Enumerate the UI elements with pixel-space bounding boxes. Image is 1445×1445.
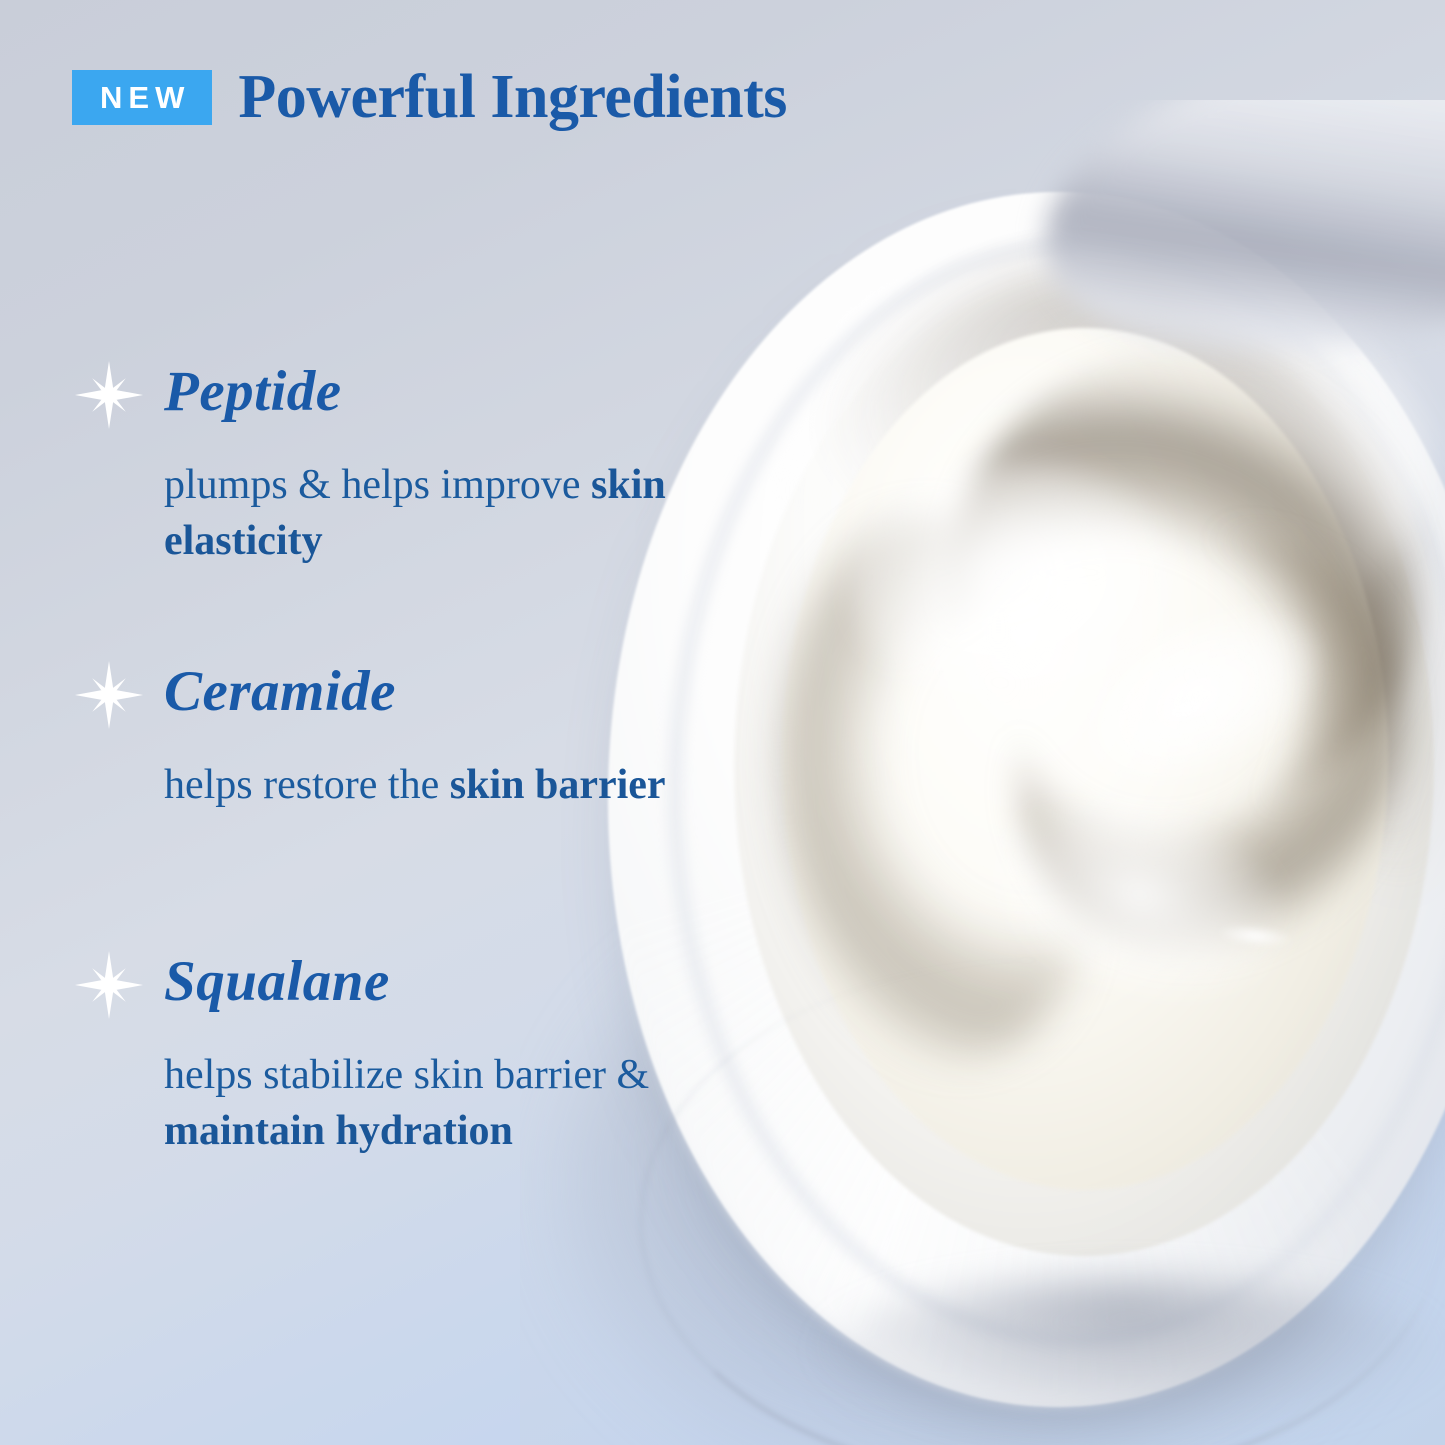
- ingredient-description: helps restore the skin barrier: [164, 758, 694, 814]
- ingredient-description: plumps & helps improve skin elasticity: [164, 458, 694, 570]
- sparkle-icon: [72, 358, 146, 432]
- sparkle-icon: [72, 658, 146, 732]
- new-badge: NEW: [72, 70, 212, 125]
- sparkle-icon: [72, 948, 146, 1022]
- ingredient-item: Ceramide helps restore the skin barrier: [72, 662, 712, 814]
- header: NEW Powerful Ingredients: [72, 62, 787, 133]
- ingredient-name: Peptide: [164, 362, 342, 422]
- ingredient-item: Peptide plumps & helps improve skin elas…: [72, 362, 712, 570]
- ingredient-name: Ceramide: [164, 662, 396, 722]
- promo-image: NEW Powerful Ingredients Peptide plumps …: [0, 0, 1445, 1445]
- desc-emphasis: maintain hydration: [164, 1108, 513, 1154]
- desc-lead: helps stabilize skin barrier &: [164, 1052, 649, 1098]
- page-title: Powerful Ingredients: [238, 62, 787, 133]
- ingredient-item: Squalane helps stabilize skin barrier & …: [72, 952, 712, 1160]
- jar-contact-shadow: [820, 1280, 1440, 1430]
- desc-lead: helps restore the: [164, 762, 450, 808]
- ingredient-heading: Peptide: [72, 362, 712, 432]
- desc-emphasis: skin barrier: [450, 762, 666, 808]
- copy-column: NEW Powerful Ingredients Peptide plumps …: [0, 0, 720, 1445]
- ingredient-heading: Squalane: [72, 952, 712, 1022]
- ingredient-name: Squalane: [164, 952, 390, 1012]
- ingredient-description: helps stabilize skin barrier & maintain …: [164, 1048, 694, 1160]
- ingredient-heading: Ceramide: [72, 662, 712, 732]
- desc-lead: plumps & helps improve: [164, 462, 591, 508]
